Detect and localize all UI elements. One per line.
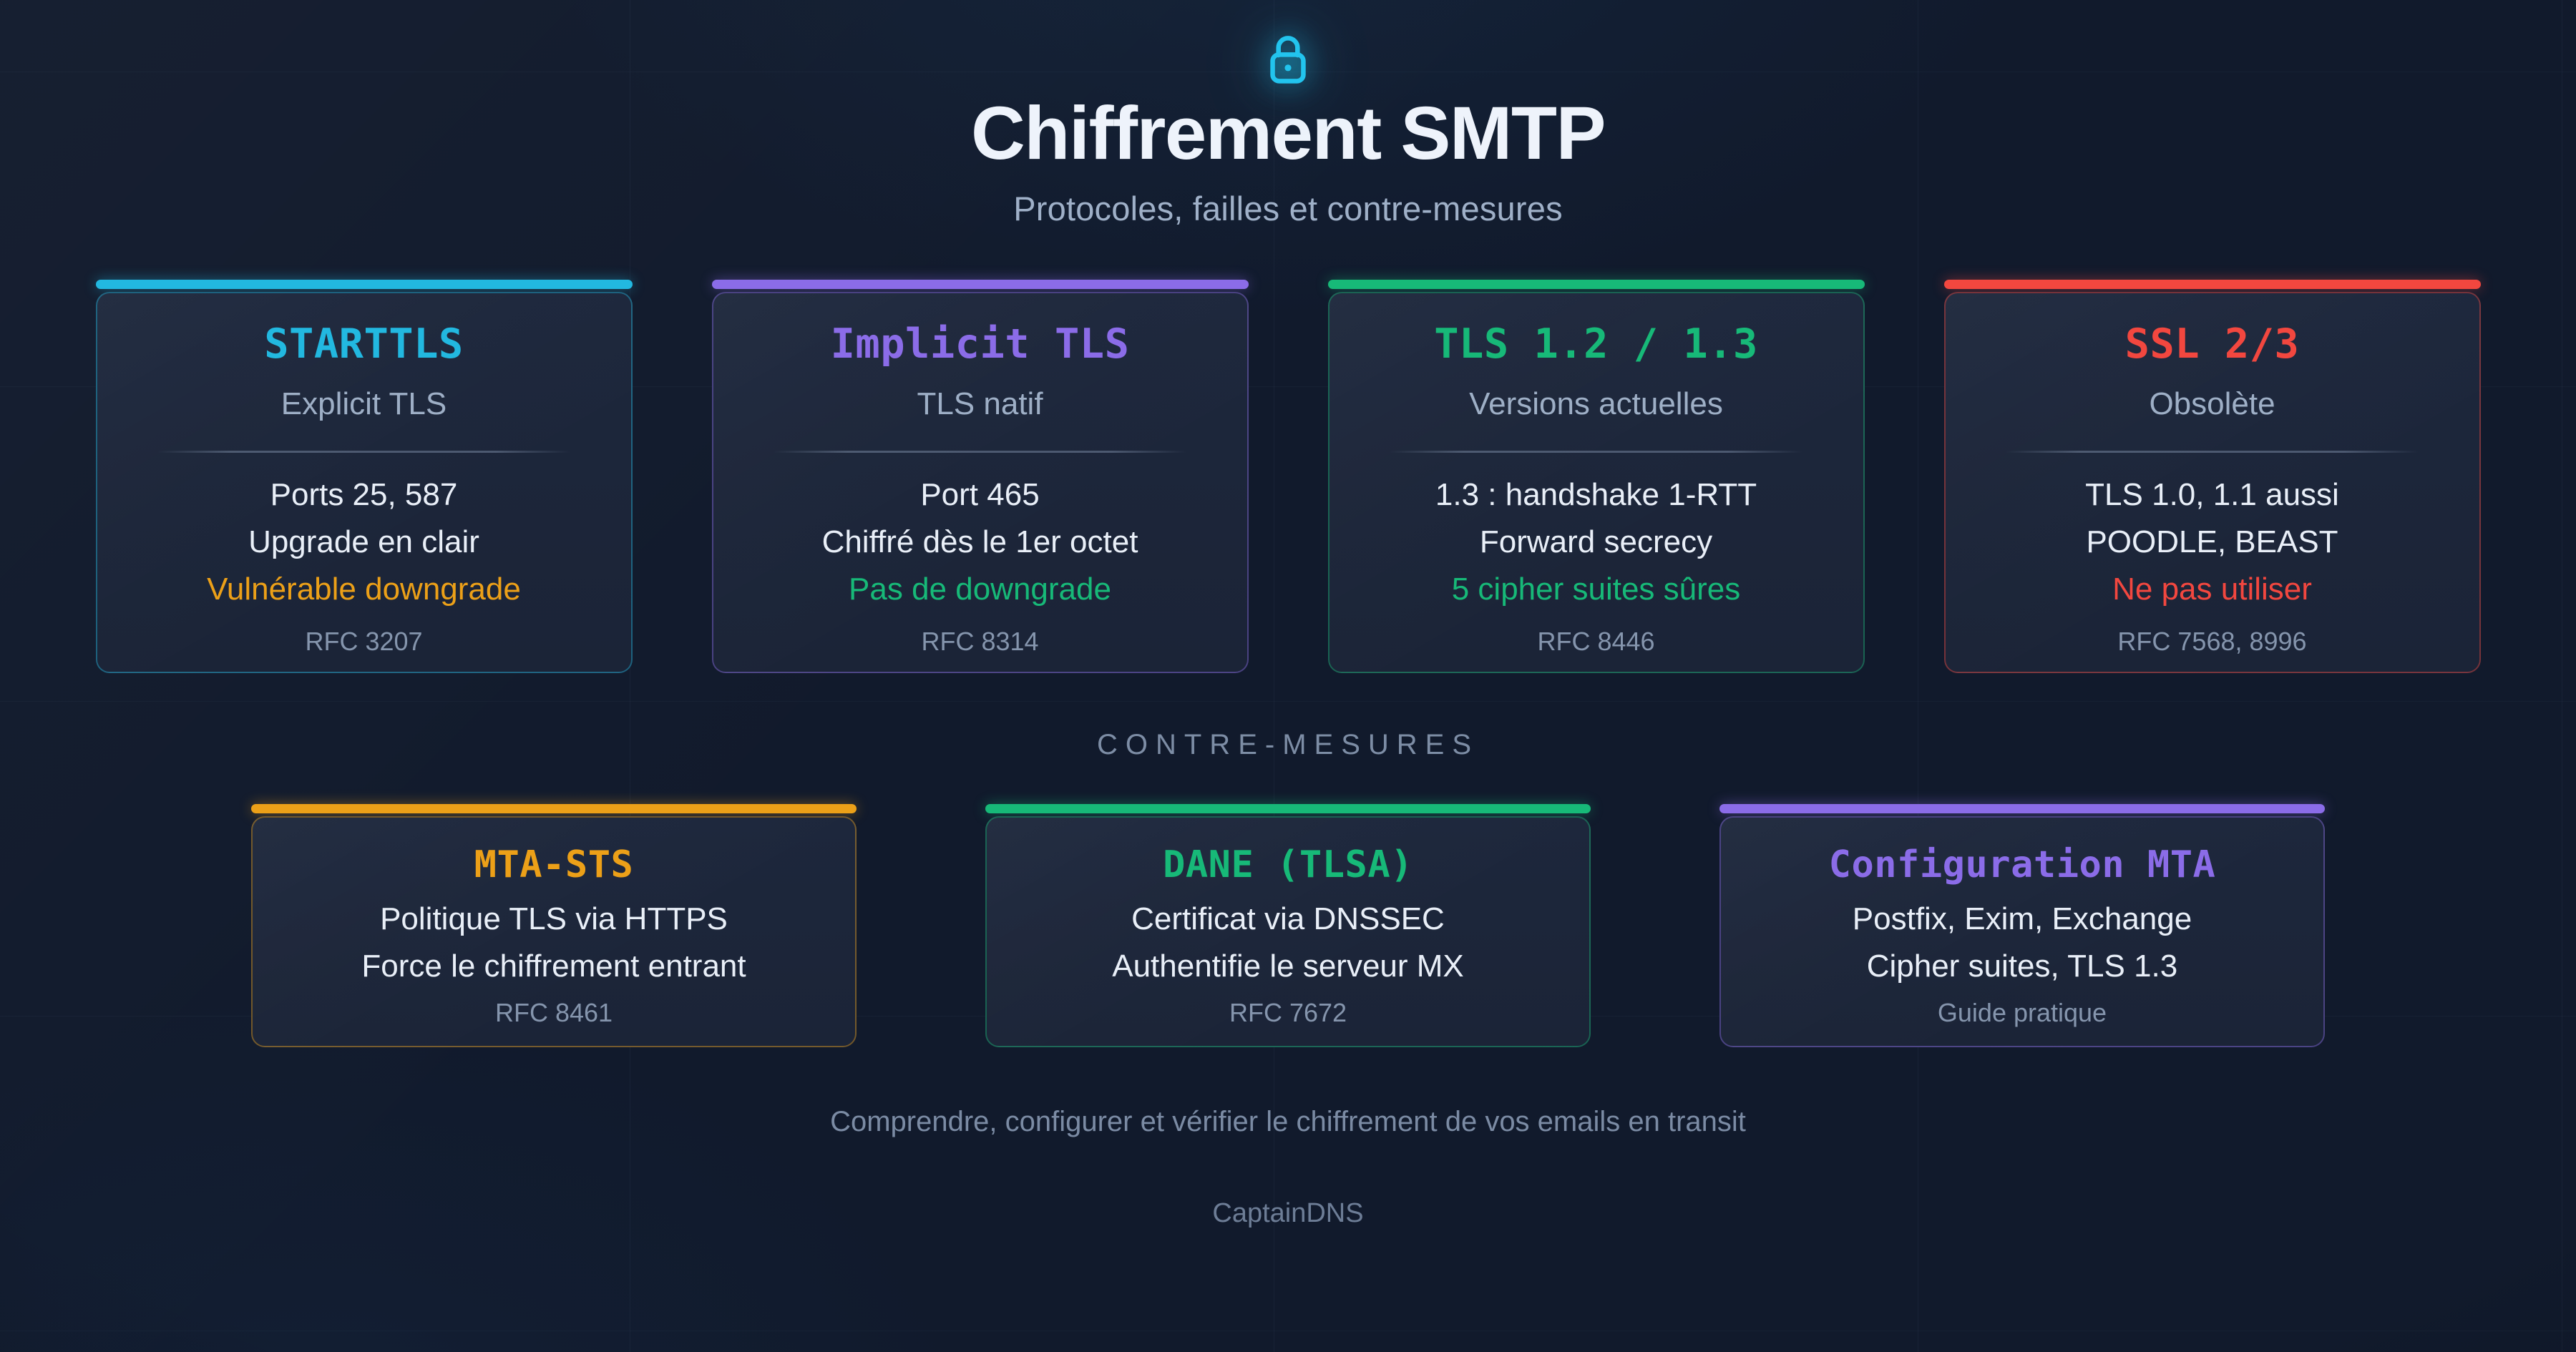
section-label-countermeasures: CONTRE-MESURES — [0, 729, 2576, 761]
card-line: TLS 1.0, 1.1 aussi — [2085, 479, 2339, 511]
card-line-list: TLS 1.0, 1.1 aussiPOODLE, BEASTNe pas ut… — [2085, 479, 2339, 657]
card-reference: RFC 8314 — [921, 627, 1038, 657]
card-line: Upgrade en clair — [248, 526, 479, 558]
card-line: Forward secrecy — [1480, 526, 1712, 558]
card-line-list: Port 465Chiffré dès le 1er octetPas de d… — [822, 479, 1138, 657]
page-subtitle: Protocoles, failles et contre-mesures — [0, 189, 2576, 228]
card-line: POODLE, BEAST — [2086, 526, 2338, 558]
card-accent-bar — [1719, 804, 2325, 813]
card-line-list: Postfix, Exim, ExchangeCipher suites, TL… — [1853, 903, 2192, 1028]
footer-brand: CaptainDNS — [0, 1198, 2576, 1229]
card-title: MTA-STS — [474, 846, 634, 883]
protocol-card[interactable]: Implicit TLSTLS natifPort 465Chiffré dès… — [712, 280, 1249, 673]
card-accent-bar — [1328, 280, 1865, 289]
card-line-list: Politique TLS via HTTPSForce le chiffrem… — [361, 903, 746, 1028]
card-accent-bar — [251, 804, 857, 813]
card-title: STARTTLS — [264, 324, 464, 365]
card-reference: RFC 7672 — [1229, 998, 1347, 1028]
card-divider — [2006, 451, 2418, 453]
card-body: MTA-STSPolitique TLS via HTTPSForce le c… — [251, 816, 857, 1047]
card-line: Ports 25, 587 — [270, 479, 458, 511]
footer-tagline: Comprendre, configurer et vérifier le ch… — [0, 1106, 2576, 1138]
card-title: SSL 2/3 — [2125, 324, 2300, 365]
card-line: Chiffré dès le 1er octet — [822, 526, 1138, 558]
card-reference: RFC 8446 — [1537, 627, 1654, 657]
card-line-list: 1.3 : handshake 1-RTTForward secrecy5 ci… — [1435, 479, 1757, 657]
card-divider — [1390, 451, 1802, 453]
protocol-card[interactable]: SSL 2/3ObsolèteTLS 1.0, 1.1 aussiPOODLE,… — [1944, 280, 2481, 673]
protocol-card[interactable]: STARTTLSExplicit TLSPorts 25, 587Upgrade… — [96, 280, 633, 673]
card-reference: RFC 7568, 8996 — [2117, 627, 2306, 657]
page-header: Chiffrement SMTP Protocoles, failles et … — [0, 0, 2576, 228]
card-title: TLS 1.2 / 1.3 — [1434, 324, 1758, 365]
card-body: Implicit TLSTLS natifPort 465Chiffré dès… — [712, 292, 1249, 673]
card-line: Vulnérable downgrade — [207, 574, 521, 605]
card-line: Politique TLS via HTTPS — [380, 903, 728, 935]
card-subtitle: Obsolète — [2149, 386, 2275, 422]
page-title: Chiffrement SMTP — [0, 92, 2576, 176]
protocol-card-row: STARTTLSExplicit TLSPorts 25, 587Upgrade… — [0, 280, 2576, 673]
card-subtitle: Versions actuelles — [1469, 386, 1723, 422]
card-line-list: Certificat via DNSSECAuthentifie le serv… — [1112, 903, 1464, 1028]
card-line: Certificat via DNSSEC — [1131, 903, 1445, 935]
card-subtitle: Explicit TLS — [281, 386, 447, 422]
card-title: Implicit TLS — [831, 324, 1130, 365]
card-reference: RFC 3207 — [305, 627, 422, 657]
countermeasure-card[interactable]: MTA-STSPolitique TLS via HTTPSForce le c… — [251, 804, 857, 1047]
card-body: SSL 2/3ObsolèteTLS 1.0, 1.1 aussiPOODLE,… — [1944, 292, 2481, 673]
card-reference: Guide pratique — [1938, 998, 2107, 1028]
countermeasure-card[interactable]: DANE (TLSA)Certificat via DNSSECAuthenti… — [985, 804, 1591, 1047]
card-body: TLS 1.2 / 1.3Versions actuelles1.3 : han… — [1328, 292, 1865, 673]
card-line: Cipher suites, TLS 1.3 — [1867, 951, 2178, 982]
card-body: STARTTLSExplicit TLSPorts 25, 587Upgrade… — [96, 292, 633, 673]
card-body: DANE (TLSA)Certificat via DNSSECAuthenti… — [985, 816, 1591, 1047]
countermeasure-card-row: MTA-STSPolitique TLS via HTTPSForce le c… — [0, 804, 2576, 1047]
card-line: Pas de downgrade — [849, 574, 1111, 605]
card-line: Force le chiffrement entrant — [361, 951, 746, 982]
card-reference: RFC 8461 — [495, 998, 613, 1028]
card-accent-bar — [712, 280, 1249, 289]
card-line-list: Ports 25, 587Upgrade en clairVulnérable … — [207, 479, 521, 657]
card-divider — [157, 451, 570, 453]
card-accent-bar — [1944, 280, 2481, 289]
card-line: 5 cipher suites sûres — [1452, 574, 1741, 605]
card-body: Configuration MTAPostfix, Exim, Exchange… — [1719, 816, 2325, 1047]
countermeasure-card[interactable]: Configuration MTAPostfix, Exim, Exchange… — [1719, 804, 2325, 1047]
card-title: Configuration MTA — [1829, 846, 2216, 883]
card-line: Postfix, Exim, Exchange — [1853, 903, 2192, 935]
page-footer: Comprendre, configurer et vérifier le ch… — [0, 1106, 2576, 1229]
card-title: DANE (TLSA) — [1163, 846, 1413, 883]
lock-icon — [1264, 33, 1312, 86]
card-accent-bar — [985, 804, 1591, 813]
infographic-page: Chiffrement SMTP Protocoles, failles et … — [0, 0, 2576, 1352]
card-accent-bar — [96, 280, 633, 289]
card-divider — [774, 451, 1186, 453]
card-subtitle: TLS natif — [917, 386, 1043, 422]
card-line: Authentifie le serveur MX — [1112, 951, 1464, 982]
card-line: Port 465 — [920, 479, 1039, 511]
card-line: 1.3 : handshake 1-RTT — [1435, 479, 1757, 511]
protocol-card[interactable]: TLS 1.2 / 1.3Versions actuelles1.3 : han… — [1328, 280, 1865, 673]
card-line: Ne pas utiliser — [2112, 574, 2312, 605]
